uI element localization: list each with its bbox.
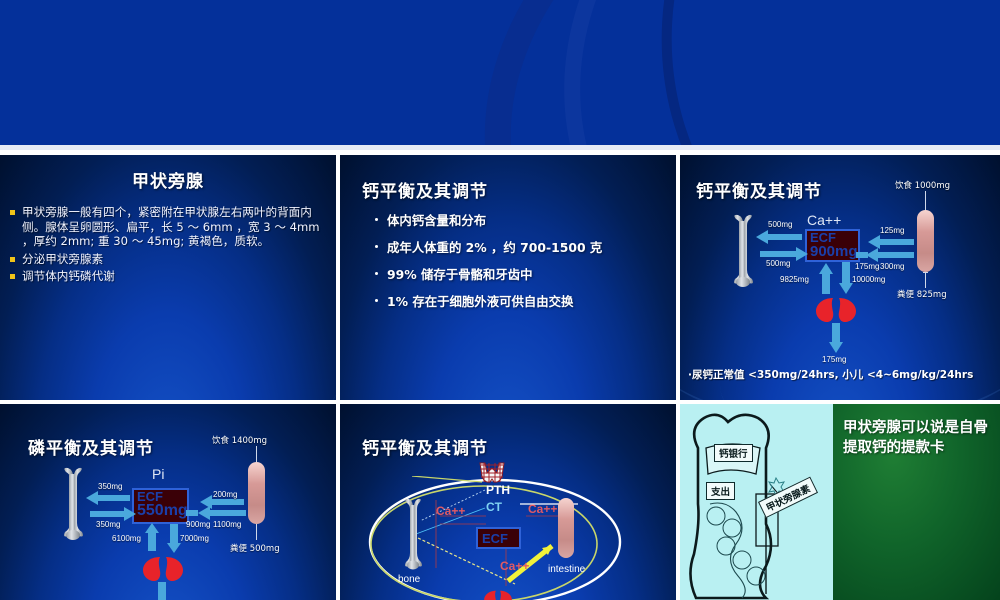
arrow-kidney-filter <box>170 524 178 544</box>
kidney-icon <box>815 297 857 323</box>
dot-bullet-icon <box>375 299 378 302</box>
intestine-icon <box>248 462 265 524</box>
gut-secrete-label: 900mg <box>186 520 210 529</box>
bone-in-label: 350mg <box>96 520 120 529</box>
dot-bullet-icon <box>375 218 378 221</box>
gut-absorb-label: 125mg <box>880 226 904 235</box>
gut-in-label: 300mg <box>880 262 904 271</box>
kidney-reabsorb-label: 6100mg <box>112 534 141 543</box>
list-item: 99% 储存于骨骼和牙齿中 <box>375 267 675 282</box>
arrowhead-right <box>796 247 808 261</box>
square-bullet-icon <box>10 274 15 279</box>
arrow-kidney-reabsorb <box>822 272 830 294</box>
feces-connector <box>925 272 926 288</box>
ion-label: Pi <box>152 466 164 482</box>
square-bullet-icon <box>10 210 15 215</box>
arrowhead-right <box>124 507 136 521</box>
arrow-gut-in <box>208 510 246 516</box>
arrowhead-down <box>839 283 853 294</box>
arrow-urine <box>832 323 840 343</box>
bone-label: bone <box>398 574 420 585</box>
arrowhead-left <box>756 230 768 244</box>
feces-label: 粪便 825mg <box>897 288 947 300</box>
urine-normal-range-note: ·尿钙正常值 <350mg/24hrs, 小儿 <4~6mg/kg/24hrs <box>688 367 998 382</box>
arrow-kidney-filter <box>842 262 850 284</box>
kidney-icon <box>478 590 518 600</box>
cartoon-label-calcium-bank: 钙银行 <box>714 444 753 462</box>
calcium-bank-illustration: 钙银行 支出 甲状旁腺素 <box>680 404 833 600</box>
bullet-list: 体内钙含量和分布 成年人体重的 2% ，约 700-1500 克 99% 储存于… <box>375 213 675 321</box>
gut-secrete-label: 175mg <box>855 262 879 271</box>
arrowhead-up <box>145 523 159 533</box>
ion-label: Ca++ <box>807 212 841 228</box>
ecf-pool-value: 550mg <box>134 503 187 519</box>
arrow-bone-to-ecf <box>760 251 798 257</box>
list-item: 成年人体重的 2% ，约 700-1500 克 <box>375 240 675 255</box>
list-item: 1% 存在于细胞外液可供自由交换 <box>375 294 675 309</box>
ion-label-kidney: Ca++ <box>500 559 529 573</box>
arrow-kidney-reabsorb <box>148 531 156 551</box>
page-title: 钙平衡及其调节 <box>362 177 488 202</box>
arrowhead-up <box>819 263 833 274</box>
list-item: 分泌甲状旁腺素 <box>8 252 330 267</box>
list-item-label: 体内钙含量和分布 <box>387 213 486 228</box>
slide-phosphorus-balance-diagram[interactable]: 磷平衡及其调节 饮食 1400mg 粪便 500mg Pi ECF 550mg … <box>0 404 336 600</box>
feces-connector <box>256 524 257 540</box>
list-item-label: 99% 储存于骨骼和牙齿中 <box>387 267 533 282</box>
arrow-gut-absorb <box>878 239 914 245</box>
green-caption-panel: 甲状旁腺可以说是自骨提取钙的提款卡 <box>833 404 1000 600</box>
kidney-reabsorb-label: 9825mg <box>780 275 809 284</box>
list-item-label: 成年人体重的 2% ，约 700-1500 克 <box>387 240 602 255</box>
cartoon-label-expenditure: 支出 <box>706 482 735 500</box>
list-item-label: 1% 存在于细胞外液可供自由交换 <box>387 294 573 309</box>
diet-connector <box>925 191 926 211</box>
arrow-gut-secrete <box>856 252 868 258</box>
bone-in-label: 500mg <box>766 259 790 268</box>
kidney-filter-label: 10000mg <box>852 275 885 284</box>
page-title: 钙平衡及其调节 <box>362 434 488 459</box>
slide-parathyroid-overview[interactable]: 甲状旁腺 甲状旁腺一般有四个，紧密附在甲状腺左右两叶的背面内侧。腺体呈卵圆形、扁… <box>0 155 336 400</box>
ion-label-bone: Ca++ <box>436 504 465 518</box>
ecf-pool-label: ECF <box>478 529 519 549</box>
feces-tick <box>923 272 928 273</box>
diet-connector <box>256 446 257 462</box>
intestine-icon <box>917 210 934 272</box>
bone-icon <box>402 498 424 570</box>
ecf-pool-box: ECF <box>476 527 521 549</box>
arrowhead-left <box>198 506 210 520</box>
arrowhead-left <box>86 491 98 505</box>
arrow-ecf-to-bone <box>96 495 130 501</box>
ecf-pool-box: ECF 550mg <box>132 488 189 524</box>
arrowhead-down <box>167 543 181 553</box>
arrow-urine <box>158 582 166 600</box>
kidney-icon <box>142 556 184 582</box>
title-banner <box>0 0 1000 150</box>
ion-label-gut: Ca++ <box>528 502 557 516</box>
bone-bank-drawing <box>680 404 833 600</box>
arrow-gut-absorb <box>210 499 244 505</box>
diet-label: 饮食 1400mg <box>212 434 267 446</box>
diet-label: 饮食 1000mg <box>895 179 950 191</box>
bone-out-label: 500mg <box>768 220 792 229</box>
slide-grid-canvas: 甲状旁腺 甲状旁腺一般有四个，紧密附在甲状腺左右两叶的背面内侧。腺体呈卵圆形、扁… <box>0 0 1000 600</box>
list-item: 甲状旁腺一般有四个，紧密附在甲状腺左右两叶的背面内侧。腺体呈卵圆形、扁平，长 5… <box>8 205 330 249</box>
arrow-gut-secrete <box>186 510 198 516</box>
urine-label: 175mg <box>822 355 846 364</box>
green-caption-text: 甲状旁腺可以说是自骨提取钙的提款卡 <box>843 418 993 458</box>
intestine-icon <box>558 498 574 558</box>
arrow-ecf-to-bone <box>766 234 802 240</box>
arrowhead-left <box>868 235 880 249</box>
ecf-pool-box: ECF 900mg <box>805 229 860 262</box>
bone-icon <box>60 466 86 540</box>
kidney-filter-label: 7000mg <box>180 534 209 543</box>
list-item-label: 调节体内钙磷代谢 <box>22 269 115 283</box>
bullet-list: 甲状旁腺一般有四个，紧密附在甲状腺左右两叶的背面内侧。腺体呈卵圆形、扁平，长 5… <box>8 205 330 287</box>
page-title: 磷平衡及其调节 <box>28 434 154 459</box>
slide-calcium-regulation-loop[interactable]: 钙平衡及其调节 PTH CT <box>340 404 676 600</box>
dot-bullet-icon <box>375 272 378 275</box>
gut-in-label: 1100mg <box>213 520 241 529</box>
gut-absorb-label: 200mg <box>213 490 237 499</box>
slide-calcium-balance-diagram[interactable]: 钙平衡及其调节 饮食 1000mg 粪便 825mg Ca++ ECF 900m… <box>680 155 1000 400</box>
ecf-pool-value: 900mg <box>807 244 858 259</box>
bone-icon <box>730 213 756 287</box>
feces-label: 粪便 500mg <box>230 542 280 554</box>
list-item: 体内钙含量和分布 <box>375 213 675 228</box>
arrow-bone-to-ecf <box>90 511 126 517</box>
page-title: 钙平衡及其调节 <box>696 177 822 202</box>
banner-bottom-rule <box>0 145 1000 150</box>
arrowhead-down <box>829 342 843 353</box>
list-item-label: 甲状旁腺一般有四个，紧密附在甲状腺左右两叶的背面内侧。腺体呈卵圆形、扁平，长 5… <box>22 205 320 248</box>
square-bullet-icon <box>10 257 15 262</box>
slide-calcium-bank-cartoon[interactable]: 钙银行 支出 甲状旁腺素 甲状旁腺可以说是自骨提取钙的提款卡 <box>680 404 1000 600</box>
arrow-gut-in <box>876 252 914 258</box>
list-item-label: 分泌甲状旁腺素 <box>22 252 103 266</box>
intestine-label: intestine <box>548 564 585 575</box>
page-title: 甲状旁腺 <box>0 167 336 192</box>
list-item: 调节体内钙磷代谢 <box>8 269 330 284</box>
dot-bullet-icon <box>375 245 378 248</box>
bone-out-label: 350mg <box>98 482 122 491</box>
slide-calcium-balance-text[interactable]: 钙平衡及其调节 体内钙含量和分布 成年人体重的 2% ，约 700-1500 克… <box>340 155 676 400</box>
